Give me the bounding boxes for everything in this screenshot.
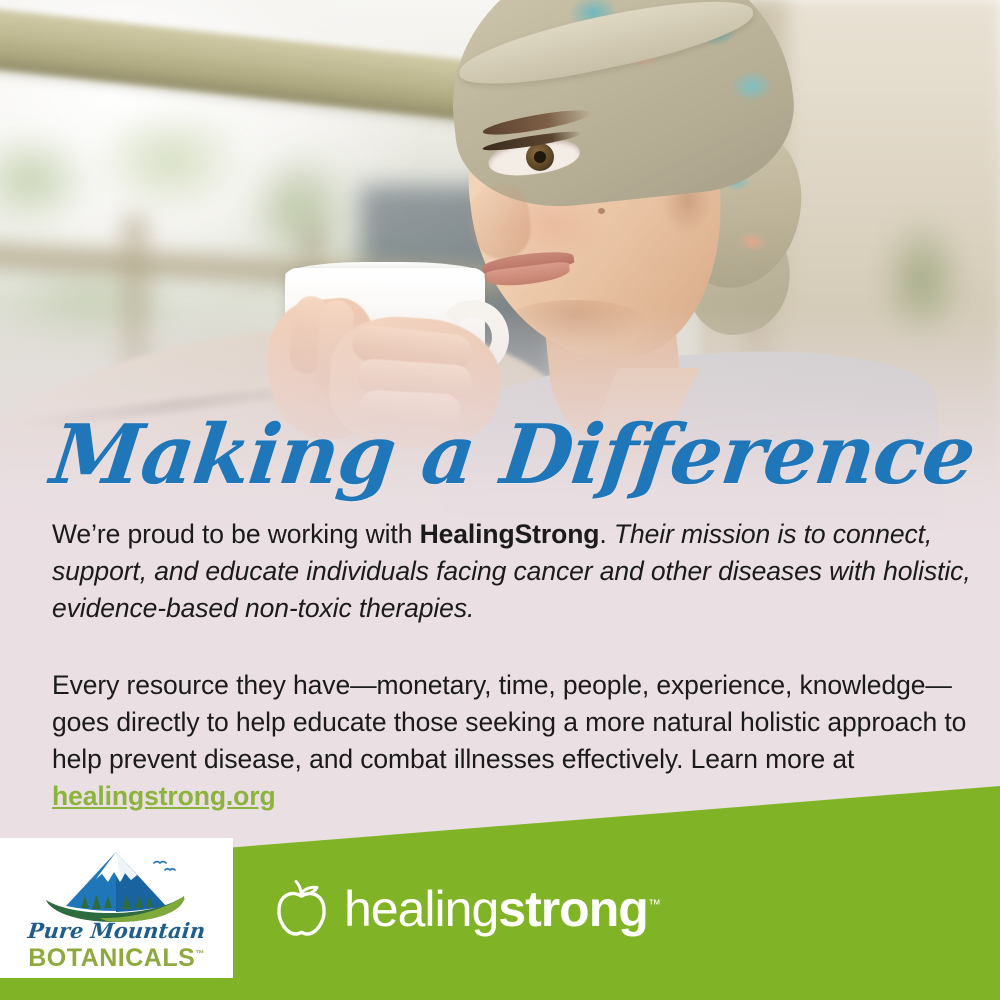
mountain-logo-icon	[36, 846, 196, 924]
trademark-symbol: ™	[195, 949, 205, 959]
botanicals-text: BOTANICALS™	[28, 945, 205, 971]
paragraph-one: We’re proud to be working with HealingSt…	[52, 516, 972, 627]
healingstrong-brand-mention: HealingStrong	[420, 519, 600, 549]
pure-mountain-botanicals-wordmark: Pure Mountain BOTANICALS™	[0, 920, 233, 971]
botanicals-label: BOTANICALS	[28, 944, 195, 972]
promo-poster: Making a Difference We’re proud to be wo…	[0, 0, 1000, 1000]
healingstrong-wordmark: healingstrong™	[344, 884, 660, 934]
pure-mountain-script-text: Pure Mountain	[27, 920, 206, 941]
healingstrong-logo: healingstrong™	[272, 878, 660, 940]
healingstrong-website-link[interactable]: healingstrong.org	[52, 781, 276, 811]
trademark-symbol: ™	[648, 896, 660, 911]
pure-mountain-botanicals-logo-card: Pure Mountain BOTANICALS™	[0, 838, 233, 978]
page-title: Making a Difference	[47, 414, 757, 496]
strong-text: strong	[498, 881, 648, 937]
paragraph-two-text: Every resource they have—monetary, time,…	[52, 670, 966, 774]
apple-outline-icon	[272, 878, 330, 940]
paragraph-one-lead: We’re proud to be working with	[52, 519, 420, 549]
paragraph-two: Every resource they have—monetary, time,…	[52, 667, 972, 815]
healing-text: healing	[344, 881, 498, 937]
body-copy: We’re proud to be working with HealingSt…	[52, 516, 972, 815]
paragraph-one-period: .	[599, 519, 614, 549]
